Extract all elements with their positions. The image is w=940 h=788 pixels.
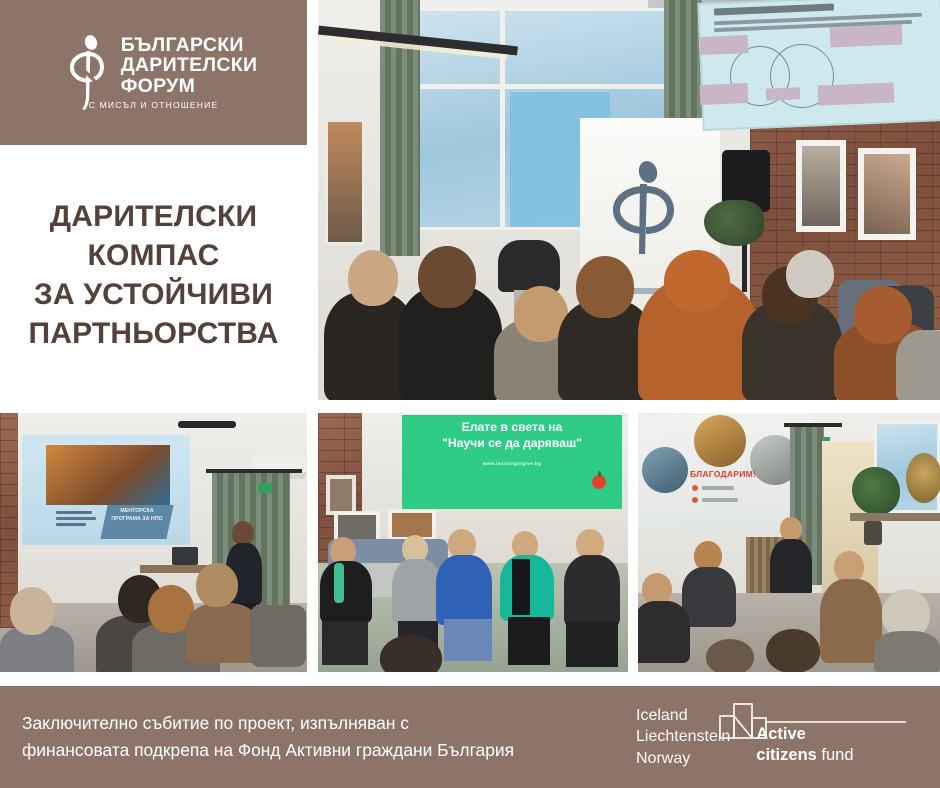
footer-line-2: финансовата подкрепа на Фонд Активни гра… <box>22 737 632 764</box>
photo-thankyou-presentation: БЛАГОДАРИМ! <box>638 413 940 672</box>
photo-mentorship-presentation: МЕНТОРСКА ПРОГРАМА ЗА НПО <box>0 413 307 672</box>
iln-line-2: Liechtenstein <box>636 726 730 747</box>
slide-green-heading: Елате в света на "Научи се да даряваш" <box>406 419 618 451</box>
footer-line-1: Заключително събитие по проект, изпълняв… <box>22 710 632 737</box>
slide-thankyou-heading: БЛАГОДАРИМ! <box>690 469 756 479</box>
banner-bdf-logo-icon <box>606 158 692 268</box>
poster: БЪЛГАРСКИ ДАРИТЕЛСКИ ФОРУМ С МИСЪЛ И ОТН… <box>0 0 940 788</box>
poster-title: ДАРИТЕЛСКИ КОМПАС ЗА УСТОЙЧИВИ ПАРТНЬОРС… <box>20 197 286 353</box>
iln-grants-wordmark: Iceland Liechtenstein Norway <box>636 705 730 768</box>
iln-line-1: Iceland <box>636 705 730 726</box>
apple-icon <box>592 475 606 489</box>
brand-name-line-1: БЪЛГАРСКИ <box>121 35 258 56</box>
photo-panel-green-screen: Елате в света на "Научи се да даряваш" w… <box>318 413 628 672</box>
acf-light-word: fund <box>821 746 853 764</box>
title-line-1: ДАРИТЕЛСКИ <box>28 197 278 236</box>
poster-title-block: ДАРИТЕЛСКИ КОМПАС ЗА УСТОЙЧИВИ ПАРТНЬОРС… <box>0 145 307 405</box>
brand-tagline: С МИСЪЛ И ОТНОШЕНИЕ <box>89 100 226 110</box>
title-line-3: ЗА УСТОЙЧИВИ <box>28 275 278 314</box>
brand-name-line-2: ДАРИТЕЛСКИ <box>121 55 258 76</box>
acf-bold-word: citizens <box>756 746 817 764</box>
slide-green-url: www.learningtogive.bg <box>406 461 618 466</box>
photo-main-audience <box>318 0 940 400</box>
footer-description: Заключително събитие по проект, изпълняв… <box>22 710 632 764</box>
iceland-liechtenstein-norway-grants-mark-icon <box>718 700 908 744</box>
brand-logo-block: БЪЛГАРСКИ ДАРИТЕЛСКИ ФОРУМ С МИСЪЛ И ОТН… <box>0 0 307 145</box>
title-line-2: КОМПАС <box>28 236 278 275</box>
slide-heading-mentorship: МЕНТОРСКА ПРОГРАМА ЗА НПО <box>106 508 168 524</box>
iln-line-3: Norway <box>636 748 730 769</box>
brand-name-line-3: ФОРУМ <box>121 76 258 97</box>
title-line-4: ПАРТНЬОРСТВА <box>28 314 278 353</box>
